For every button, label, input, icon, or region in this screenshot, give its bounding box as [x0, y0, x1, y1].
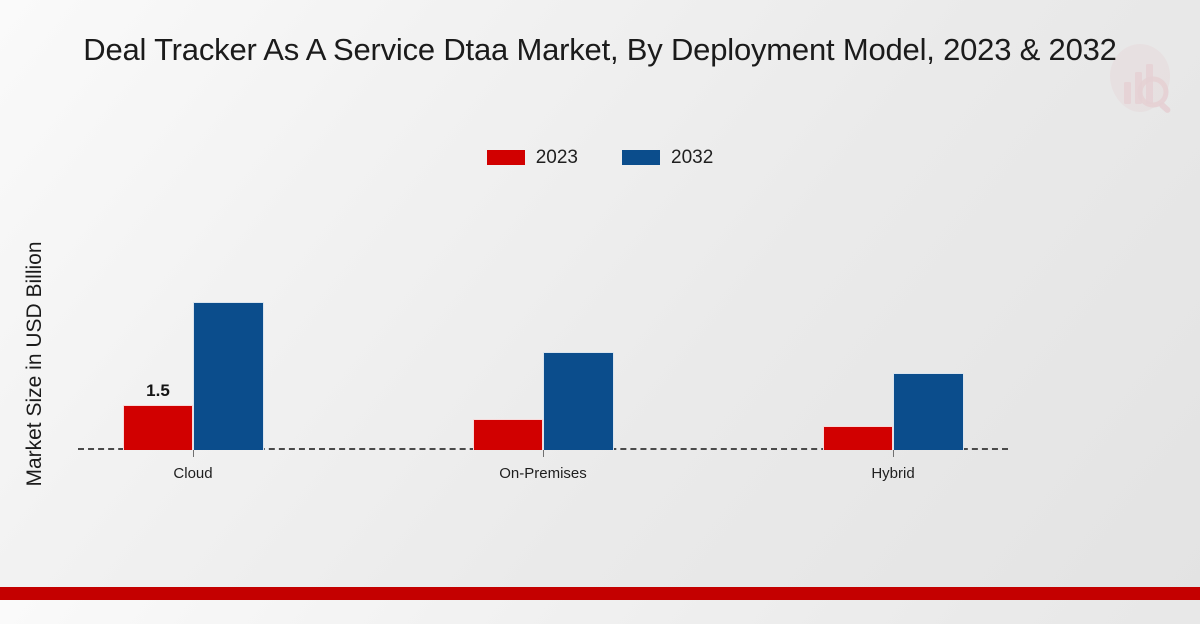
bar-value-cloud-2023: 1.5	[146, 381, 170, 401]
x-tick-hybrid	[893, 450, 894, 457]
chart-plot-area: 1.5 Cloud On-Premises Hybrid	[78, 190, 1008, 450]
x-category-label-on-premises: On-Premises	[499, 465, 587, 482]
bar-group-cloud-bars: 1.5	[123, 190, 264, 450]
legend-item-2023[interactable]: 2023	[487, 148, 578, 167]
bar-hybrid-2023[interactable]	[823, 426, 893, 450]
x-tick-on-premises	[543, 450, 544, 457]
bar-cloud-2032[interactable]	[193, 302, 264, 450]
footer-accent-band	[0, 587, 1200, 600]
bar-cloud-2023[interactable]: 1.5	[123, 405, 193, 450]
legend-label-2023: 2023	[536, 148, 578, 167]
legend-swatch-2032-icon	[622, 150, 660, 165]
legend-label-2032: 2032	[671, 148, 713, 167]
legend-swatch-2023-icon	[487, 150, 525, 165]
y-axis-label: Market Size in USD Billion	[23, 104, 47, 624]
chart-legend: 2023 2032	[0, 148, 1200, 167]
x-category-label-cloud: Cloud	[173, 465, 212, 482]
legend-item-2032[interactable]: 2032	[622, 148, 713, 167]
bar-group-hybrid-bars	[823, 190, 964, 450]
x-category-label-hybrid: Hybrid	[871, 465, 914, 482]
bar-hybrid-2032[interactable]	[893, 373, 964, 450]
bar-on-premises-2023[interactable]	[473, 419, 543, 450]
page-title: Deal Tracker As A Service Dtaa Market, B…	[0, 32, 1200, 68]
bar-on-premises-2032[interactable]	[543, 352, 614, 450]
bar-group-on-premises-bars	[473, 190, 614, 450]
x-tick-cloud	[193, 450, 194, 457]
